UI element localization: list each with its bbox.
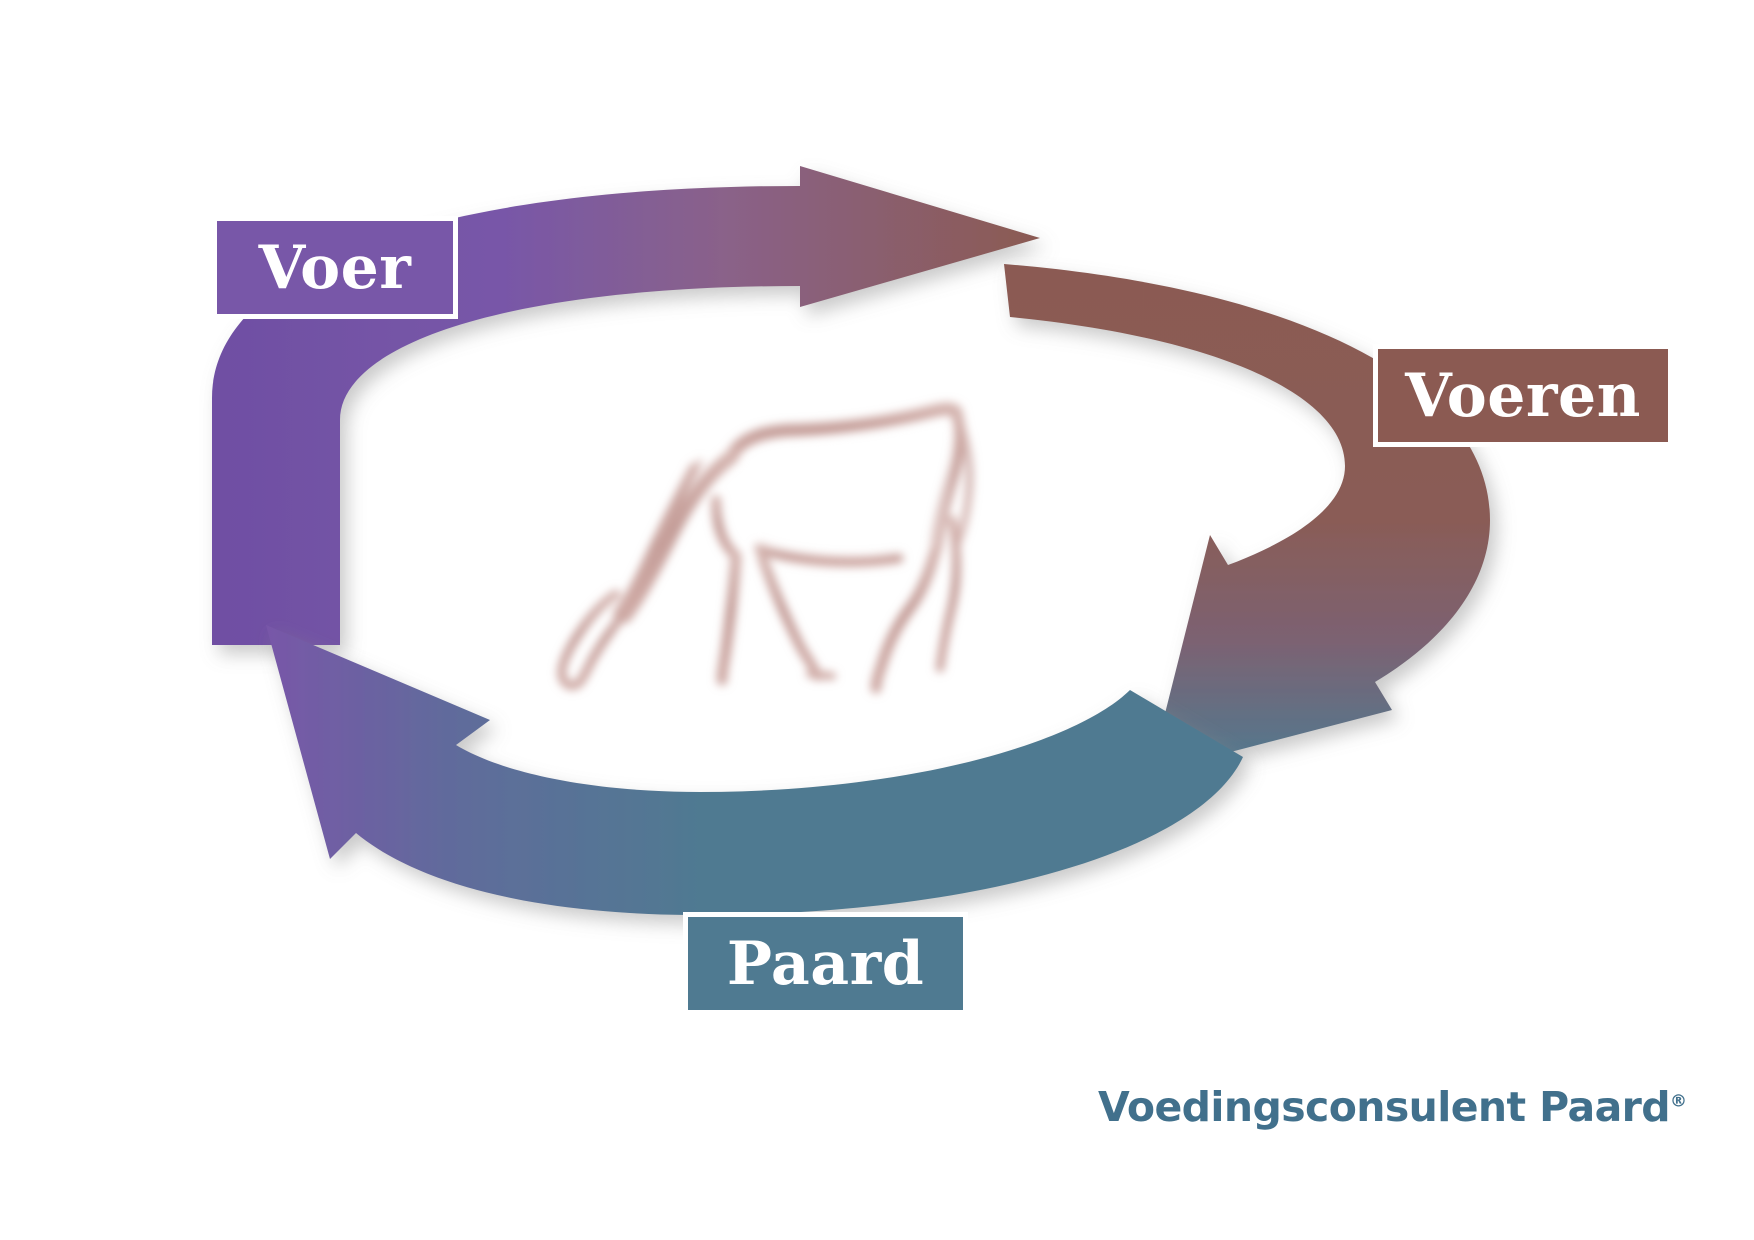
- brand-lockup: Voedingsconsulent Paard®: [1098, 1083, 1687, 1131]
- label-chip-voeren: Voeren: [1373, 344, 1673, 447]
- label-chip-voeren-text: Voeren: [1405, 366, 1641, 426]
- label-chip-voer-text: Voer: [259, 238, 412, 298]
- brand-name: Voedingsconsulent Paard: [1098, 1083, 1670, 1131]
- cycle-diagram-svg: [0, 0, 1754, 1240]
- registered-trademark-icon: ®: [1670, 1091, 1687, 1111]
- arrow-voeren: [1004, 264, 1490, 773]
- label-chip-paard: Paard: [683, 912, 968, 1015]
- label-chip-voer: Voer: [212, 216, 458, 319]
- grazing-horse-illustration: [520, 360, 1020, 730]
- label-chip-paard-text: Paard: [727, 934, 924, 994]
- diagram-canvas: Voer Voeren Paard Voedingsconsulent Paar…: [0, 0, 1754, 1240]
